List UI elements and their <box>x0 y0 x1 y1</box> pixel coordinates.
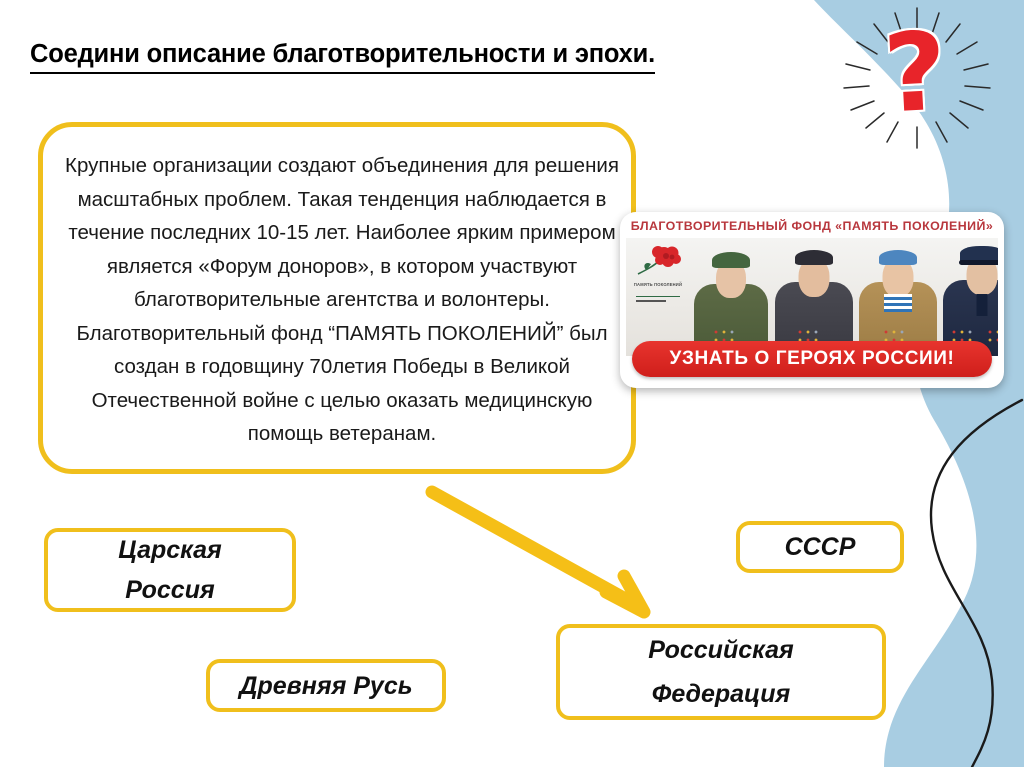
era-option-line1: Древняя Русь <box>239 671 412 701</box>
carnation-logo-icon: ПАМЯТЬ ПОКОЛЕНИЙ <box>632 244 684 308</box>
era-option-line1: СССР <box>785 532 856 562</box>
question-mark-glyph: ? <box>881 18 949 129</box>
question-mark-decoration: ? <box>832 2 1002 152</box>
page-title: Соедини описание благотворительности и э… <box>30 40 655 74</box>
banner-cta-label: УЗНАТЬ О ГЕРОЯХ РОССИИ! <box>670 348 955 370</box>
veterans-photo: ПАМЯТЬ ПОКОЛЕНИЙ <box>626 238 998 356</box>
era-option-sssr[interactable]: СССР <box>736 521 904 573</box>
carnation-flower-icon <box>632 244 684 284</box>
logo-rule-secondary <box>636 300 666 302</box>
era-option-line1: Царская <box>118 530 222 570</box>
veteran-figure-3 <box>858 238 938 356</box>
logo-caption: ПАМЯТЬ ПОКОЛЕНИЙ <box>632 282 684 287</box>
veteran-figure-1 <box>692 238 770 356</box>
era-option-tsarskaya-rossiya[interactable]: Царская Россия <box>44 528 296 612</box>
veteran-figure-4 <box>942 238 998 356</box>
era-option-rossiyskaya-federatsiya[interactable]: Российская Федерация <box>556 624 886 720</box>
answer-arrow-icon <box>410 470 670 630</box>
logo-rule <box>636 296 680 297</box>
description-text: Крупные организации создают объединения … <box>61 149 623 451</box>
era-option-line2: Россия <box>125 570 214 610</box>
banner-title: БЛАГОТВОРИТЕЛЬНЫЙ ФОНД «ПАМЯТЬ ПОКОЛЕНИЙ… <box>620 219 1004 233</box>
description-bubble: Крупные организации создают объединения … <box>38 122 636 474</box>
charity-fund-banner[interactable]: БЛАГОТВОРИТЕЛЬНЫЙ ФОНД «ПАМЯТЬ ПОКОЛЕНИЙ… <box>620 212 1004 388</box>
era-option-line2: Федерация <box>652 672 790 716</box>
slide-canvas: ? Соедини описание благотворительности и… <box>0 0 1024 767</box>
banner-cta-button[interactable]: УЗНАТЬ О ГЕРОЯХ РОССИИ! <box>632 341 992 377</box>
veteran-figure-2 <box>774 238 854 356</box>
era-option-drevnyaya-rus[interactable]: Древняя Русь <box>206 659 446 712</box>
era-option-line1: Российская <box>648 628 793 672</box>
